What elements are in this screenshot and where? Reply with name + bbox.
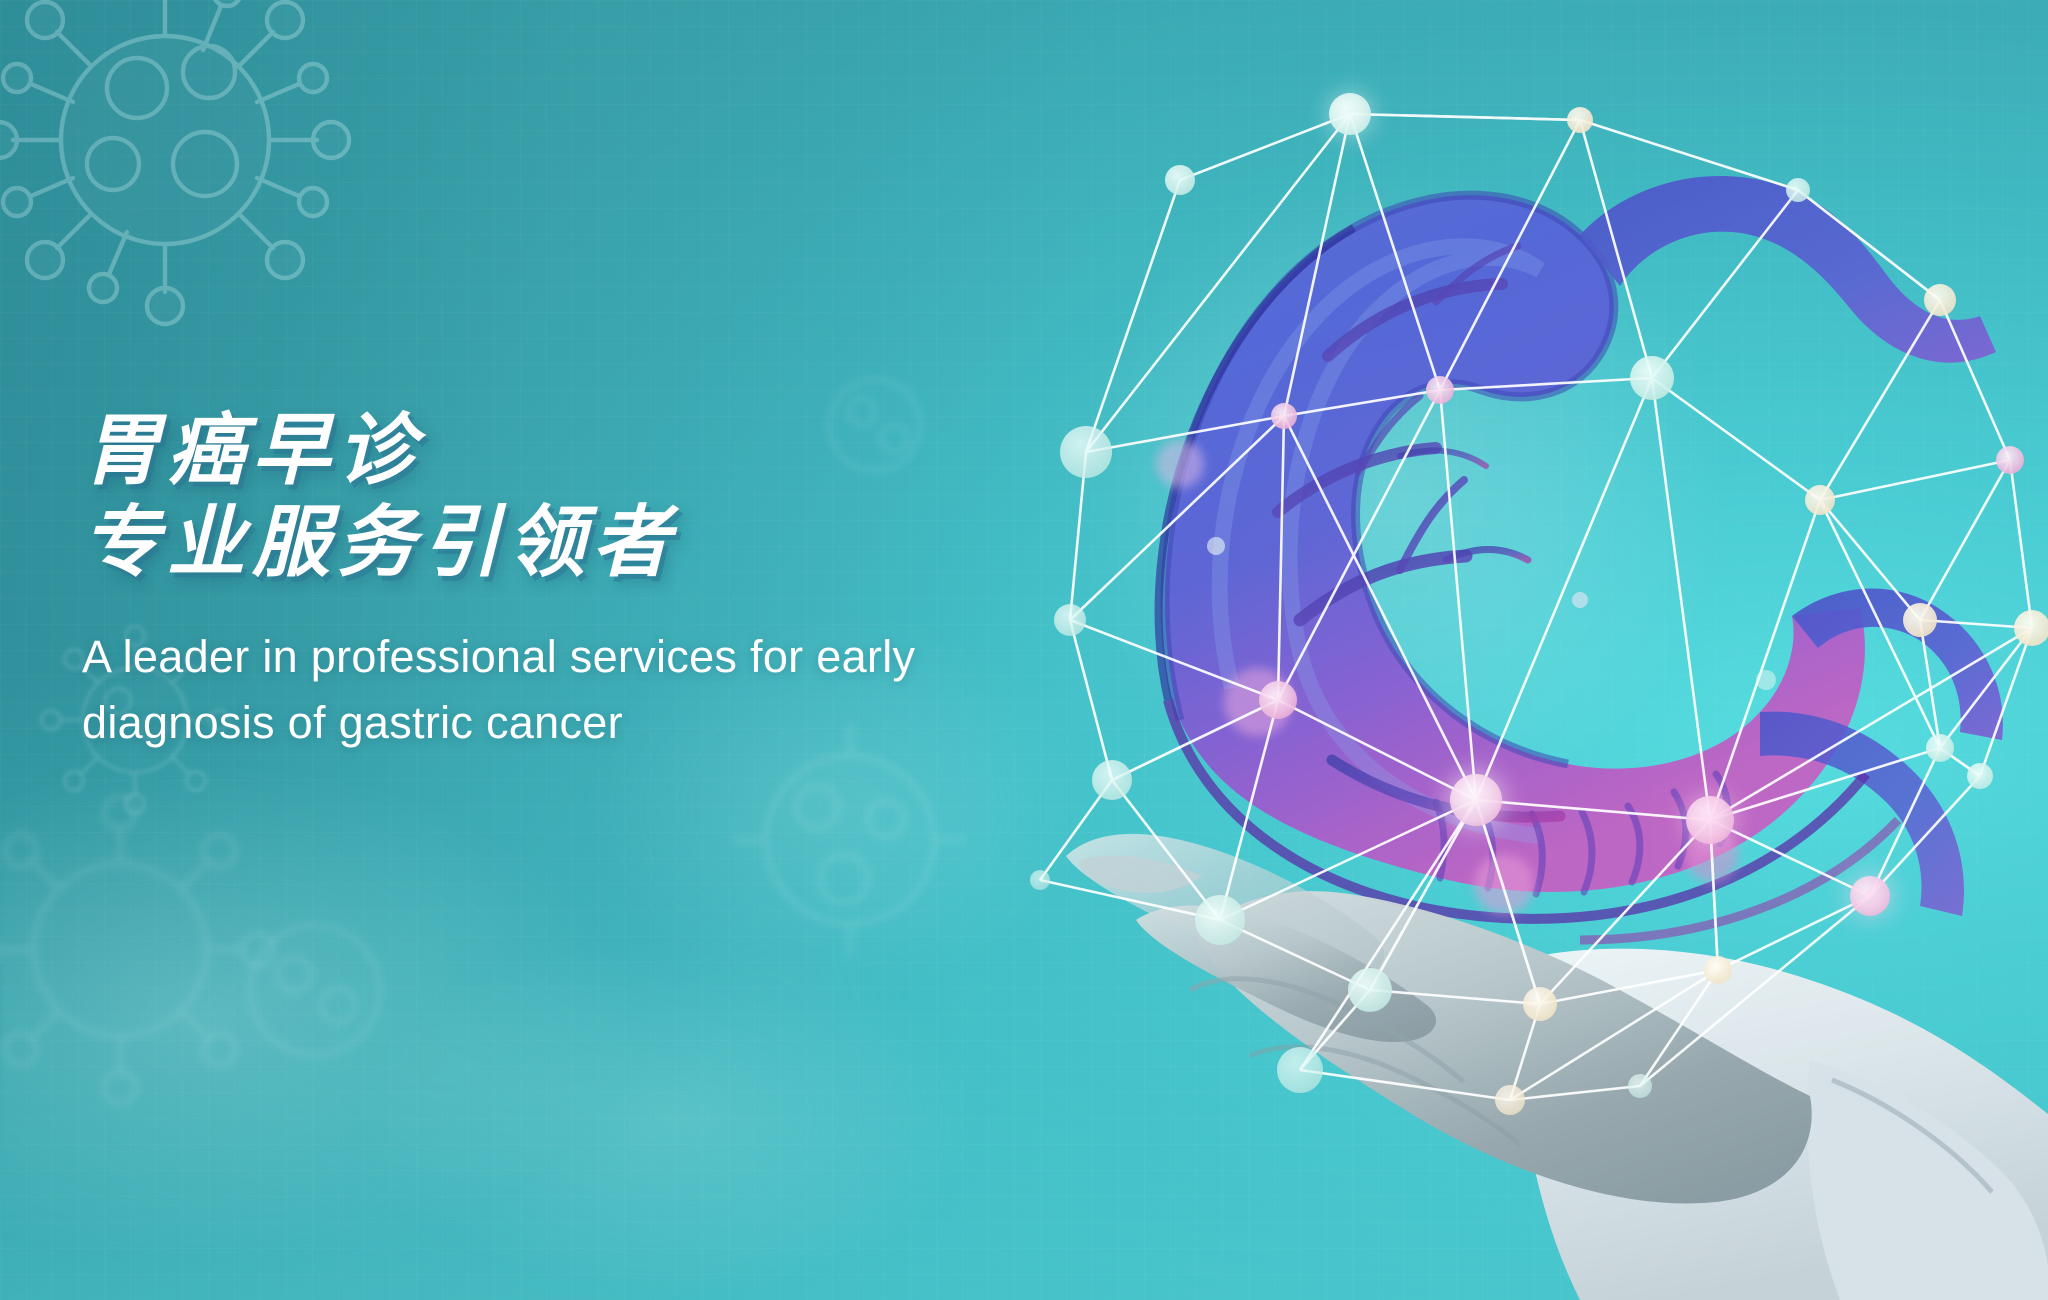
artwork-svg xyxy=(880,60,2048,1300)
stomach-network-artwork xyxy=(880,60,2048,1300)
virus-particle-icon xyxy=(185,860,445,1120)
headline-line-1: 胃癌早诊 xyxy=(82,404,982,496)
headline-line-2: 专业服务引领者 xyxy=(82,496,982,588)
subtitle-line-2: diagnosis of gastric cancer xyxy=(82,690,982,756)
hero-banner: 胃癌早诊 专业服务引领者 A leader in professional se… xyxy=(0,0,2048,1300)
page-subtitle: A leader in professional services for ea… xyxy=(82,624,982,756)
page-title: 胃癌早诊 专业服务引领者 xyxy=(82,404,982,588)
subtitle-line-1: A leader in professional services for ea… xyxy=(82,624,982,690)
virus-particle-icon xyxy=(0,0,400,340)
hero-copy-block: 胃癌早诊 专业服务引领者 A leader in professional se… xyxy=(82,404,982,756)
